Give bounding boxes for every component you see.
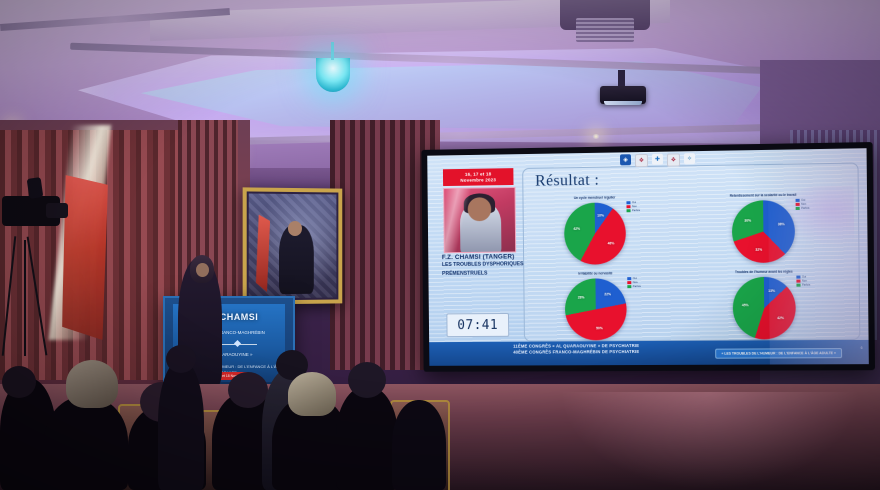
logo-row: ◈ ❖ ✚ ❖ ✧ <box>620 153 695 167</box>
portrait-flag <box>256 215 270 293</box>
pie-chart-title: Un cycle menstruel régulier <box>574 195 616 200</box>
audience-member <box>158 360 204 490</box>
legend-item: Non <box>626 205 640 208</box>
legend-item: Non <box>796 203 810 206</box>
legend-swatch-icon <box>796 280 800 283</box>
legend-item: Parfois <box>627 285 641 288</box>
ac-grille <box>576 18 634 42</box>
legend-item: Parfois <box>796 207 810 210</box>
legend-swatch-icon <box>627 281 631 284</box>
pie-chart-title: Troubles de l'humeur avant les règles <box>735 270 793 275</box>
pie-slice-label: 13% <box>768 288 775 292</box>
legend-item: Oui <box>627 277 641 280</box>
pie-chart-2: Retentissement sur la scolarité ou le tr… <box>715 193 813 269</box>
legend-label: Parfois <box>632 209 640 212</box>
pie-chart-legend: OuiNonParfois <box>626 201 640 212</box>
audience-headscarf <box>288 372 336 416</box>
logo-sponsor-icon: ✚ <box>652 154 663 165</box>
speaker-name: F.Z. CHAMSI (TANGER) <box>442 253 540 261</box>
camera-lens-icon <box>46 203 68 218</box>
tripod-leg <box>24 240 26 356</box>
speaker-face <box>196 263 209 277</box>
pie-slice-label: 30% <box>744 218 751 222</box>
legend-swatch-icon <box>626 201 630 204</box>
legend-label: Parfois <box>633 285 641 288</box>
legend-label: Parfois <box>801 207 809 210</box>
royal-portrait <box>243 187 343 304</box>
legend-swatch-icon <box>796 207 800 210</box>
speaker-caption: F.Z. CHAMSI (TANGER) LES TROUBLES DYSPHO… <box>442 253 540 278</box>
legend-item: Oui <box>626 201 640 204</box>
legend-label: Non <box>802 280 807 283</box>
projection-screen: ◈ ❖ ✚ ❖ ✧ 16, 17 et 18 Novembre 2023 F.Z… <box>421 142 875 372</box>
legend-swatch-icon <box>796 276 800 279</box>
logo-society-2-icon: ❖ <box>667 153 680 166</box>
legend-swatch-icon <box>627 277 631 280</box>
slide-title: Résultat : <box>535 172 599 191</box>
portrait-canvas <box>249 193 337 298</box>
conference-hall-photo: ◈ ❖ ✚ ❖ ✧ 16, 17 et 18 Novembre 2023 F.Z… <box>0 0 880 490</box>
pie-slice-label: 42% <box>573 227 580 231</box>
speaker-topic-line1: LES TROUBLES DYSPHORIQUES <box>442 261 540 269</box>
legend-label: Oui <box>632 201 636 204</box>
pie-chart-graphic: 10%48%42% <box>564 202 626 265</box>
pie-chart-graphic: 38%32%30% <box>732 200 795 263</box>
speaker-topic-line2: PRÉMENSTRUELS <box>442 270 540 278</box>
pie-chart-title: Irritabilité ou nervosité <box>578 271 612 275</box>
logo-society-1-icon: ❖ <box>635 154 648 167</box>
pie-slice-label: 38% <box>778 222 785 226</box>
pie-slice-label: 45% <box>742 303 749 307</box>
moroccan-flag <box>62 175 108 340</box>
legend-swatch-icon <box>796 284 800 287</box>
legend-item: Non <box>796 279 810 282</box>
speaker-thumb-head <box>468 197 492 221</box>
audience-head <box>348 362 386 398</box>
pie-chart-graphic: 13%42%45% <box>733 277 796 340</box>
footer-theme-badge: « LES TROUBLES DE L'HUMEUR : DE L'ENFANC… <box>715 348 842 359</box>
legend-swatch-icon <box>627 209 631 212</box>
legend-label: Oui <box>801 199 805 202</box>
audience-member <box>336 386 398 490</box>
pie-slice-label: 28% <box>578 295 585 299</box>
legend-swatch-icon <box>796 203 800 206</box>
pie-slice-label: 32% <box>755 248 762 252</box>
logo-congress-icon: ◈ <box>620 154 631 165</box>
legend-swatch-icon <box>626 205 630 208</box>
pie-slice-label: 42% <box>777 316 784 320</box>
legend-item: Parfois <box>796 284 810 287</box>
logo-association-icon: ✧ <box>684 153 695 164</box>
floor-light-reflection <box>560 392 860 490</box>
audience-head <box>166 345 196 373</box>
legend-item: Oui <box>796 199 810 202</box>
pie-slice-label: 10% <box>597 213 604 217</box>
pie-chart-legend: OuiNonParfois <box>796 199 810 210</box>
legend-label: Non <box>801 203 806 206</box>
audience-head <box>228 372 268 408</box>
pie-chart-4: Troubles de l'humeur avant les règles13%… <box>715 269 813 344</box>
date-banner: 16, 17 et 18 Novembre 2023 <box>443 168 514 186</box>
ceiling-projector <box>600 86 646 104</box>
downlight-icon <box>592 134 600 139</box>
legend-item: Parfois <box>627 209 641 212</box>
audience-head <box>2 366 36 398</box>
legend-label: Oui <box>633 277 637 280</box>
pie-chart-legend: OuiNonParfois <box>627 277 641 288</box>
lectern-diamond-icon <box>234 340 241 347</box>
legend-item: Non <box>627 281 641 284</box>
slide-surface: ◈ ❖ ✚ ❖ ✧ 16, 17 et 18 Novembre 2023 F.Z… <box>427 148 869 366</box>
pie-slice-label: 22% <box>604 293 611 297</box>
audience-member <box>392 400 446 490</box>
pie-slice-label: 48% <box>608 242 615 246</box>
slide-footer-bar: 11ÈME CONGRÈS « AL QUARAOUYINE » DE PSYC… <box>429 340 869 366</box>
pie-chart-graphic: 22%50%28% <box>565 278 627 340</box>
legend-label: Parfois <box>802 284 810 287</box>
portrait-head <box>288 221 302 236</box>
legend-label: Oui <box>802 275 806 278</box>
legend-label: Non <box>632 205 637 208</box>
date-banner-line2: Novembre 2023 <box>443 177 513 184</box>
pie-slice-label: 50% <box>596 326 603 330</box>
presentation-timer: 07:41 <box>446 313 509 337</box>
legend-item: Oui <box>796 275 810 278</box>
pie-chart-legend: OuiNonParfois <box>796 275 810 286</box>
pie-chart-1: Un cycle menstruel régulier10%48%42%OuiN… <box>547 195 643 270</box>
audience-headscarf <box>66 360 118 408</box>
chandelier-icon <box>316 58 350 92</box>
pie-chart-3: Irritabilité ou nervosité22%50%28%OuiNon… <box>548 271 644 345</box>
footer-congress-text: 11ÈME CONGRÈS « AL QUARAOUYINE » DE PSYC… <box>513 343 639 356</box>
speaker-video-thumbnail <box>443 187 516 253</box>
legend-swatch-icon <box>627 285 631 288</box>
slide-content-card: Résultat : Un cycle menstruel régulier10… <box>522 163 860 342</box>
legend-label: Non <box>633 281 638 284</box>
footer-line-2: 40ÈME CONGRÈS FRANCO-MAGHRÉBIN DE PSYCHI… <box>513 349 639 356</box>
audience-member <box>44 396 128 490</box>
legend-swatch-icon <box>796 199 800 202</box>
camera-viewfinder <box>27 177 44 199</box>
pie-chart-title: Retentissement sur la scolarité ou le tr… <box>730 193 797 198</box>
slide-page-number: 6 <box>861 346 863 350</box>
